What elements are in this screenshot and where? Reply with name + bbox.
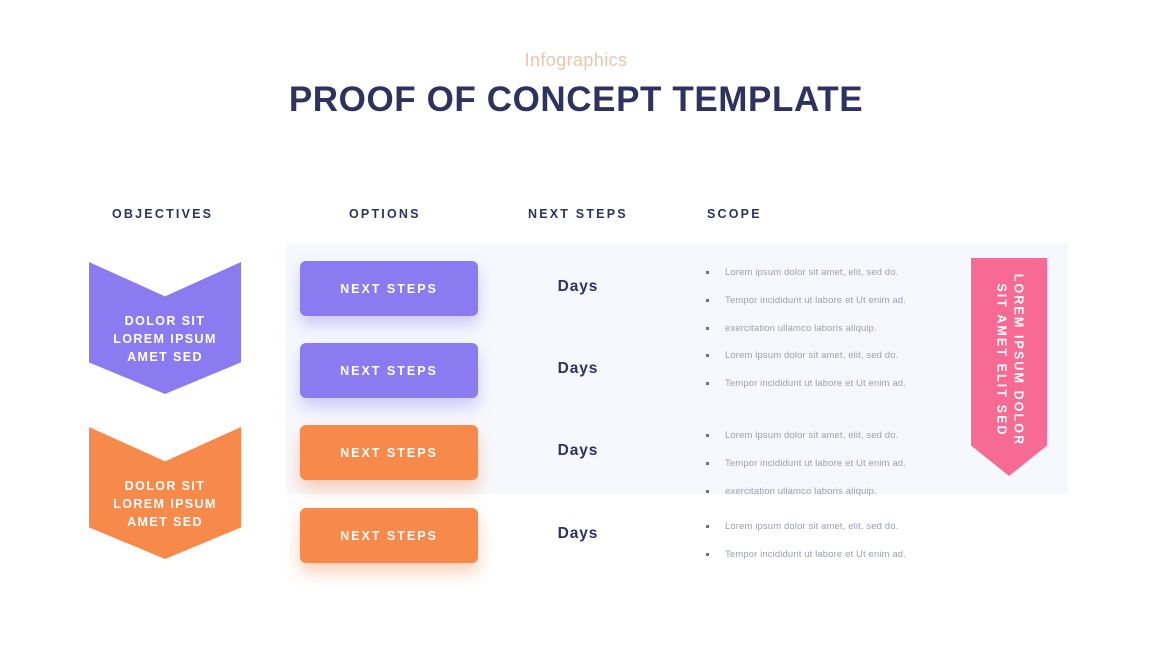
- objective-badge[interactable]: DOLOR SIT LOREM IPSUM AMET SED: [89, 262, 241, 394]
- page-title: PROOF OF CONCEPT TEMPLATE: [0, 80, 1152, 120]
- scope-text: exercitation ullamco laboris aliquip.: [725, 486, 877, 497]
- list-item: Tempor incididunt ut labore et Ut enim a…: [702, 378, 952, 389]
- ribbon-line-1: LOREM IPSUM DOLOR: [1009, 274, 1026, 447]
- bullet-icon: [706, 553, 709, 556]
- list-item: Lorem ipsum dolor sit amet, elit, sed do…: [702, 521, 952, 532]
- objective-badge[interactable]: DOLOR SIT LOREM IPSUM AMET SED: [89, 427, 241, 559]
- bullet-icon: [706, 327, 709, 330]
- objective-line-3: AMET SED: [113, 348, 217, 366]
- column-header-options: OPTIONS: [349, 207, 421, 221]
- option-button[interactable]: NEXT STEPS: [300, 343, 478, 398]
- scope-list: Lorem ipsum dolor sit amet, elit, sed do…: [702, 430, 952, 514]
- option-button[interactable]: NEXT STEPS: [300, 508, 478, 563]
- scope-text: Tempor incididunt ut labore et Ut enim a…: [725, 378, 906, 389]
- scope-text: exercitation ullamco laboris aliquip.: [725, 323, 877, 334]
- next-steps-value: Days: [528, 360, 628, 378]
- scope-text: Tempor incididunt ut labore et Ut enim a…: [725, 458, 906, 469]
- list-item: Tempor incididunt ut labore et Ut enim a…: [702, 458, 952, 469]
- list-item: Lorem ipsum dolor sit amet, elit, sed do…: [702, 267, 952, 278]
- bullet-icon: [706, 382, 709, 385]
- next-steps-value: Days: [528, 278, 628, 296]
- list-item: Lorem ipsum dolor sit amet, elit, sed do…: [702, 350, 952, 361]
- objective-line-1: DOLOR SIT: [113, 477, 217, 495]
- next-steps-value: Days: [528, 442, 628, 460]
- bullet-icon: [706, 462, 709, 465]
- list-item: exercitation ullamco laboris aliquip.: [702, 486, 952, 497]
- scope-list: Lorem ipsum dolor sit amet, elit, sed do…: [702, 350, 952, 406]
- scope-text: Lorem ipsum dolor sit amet, elit, sed do…: [725, 430, 898, 441]
- scope-text: Tempor incididunt ut labore et Ut enim a…: [725, 549, 906, 560]
- slide-canvas: Infographics PROOF OF CONCEPT TEMPLATE O…: [0, 0, 1152, 648]
- option-button[interactable]: NEXT STEPS: [300, 425, 478, 480]
- objective-line-1: DOLOR SIT: [113, 312, 217, 330]
- objective-line-2: LOREM IPSUM: [113, 495, 217, 513]
- list-item: Tempor incididunt ut labore et Ut enim a…: [702, 549, 952, 560]
- ribbon-line-2: SIT AMET ELIT SED: [992, 274, 1009, 447]
- bullet-icon: [706, 299, 709, 302]
- list-item: Tempor incididunt ut labore et Ut enim a…: [702, 295, 952, 306]
- bullet-icon: [706, 490, 709, 493]
- bullet-icon: [706, 434, 709, 437]
- bullet-icon: [706, 271, 709, 274]
- list-item: Lorem ipsum dolor sit amet, elit, sed do…: [702, 430, 952, 441]
- eyebrow-label: Infographics: [0, 50, 1152, 71]
- list-item: exercitation ullamco laboris aliquip.: [702, 323, 952, 334]
- scope-text: Lorem ipsum dolor sit amet, elit, sed do…: [725, 350, 898, 361]
- bullet-icon: [706, 525, 709, 528]
- next-steps-value: Days: [528, 525, 628, 543]
- side-ribbon-banner[interactable]: LOREM IPSUM DOLOR SIT AMET ELIT SED: [971, 258, 1047, 476]
- scope-text: Lorem ipsum dolor sit amet, elit, sed do…: [725, 521, 898, 532]
- column-header-next-steps: NEXT STEPS: [528, 207, 628, 221]
- bullet-icon: [706, 354, 709, 357]
- option-button[interactable]: NEXT STEPS: [300, 261, 478, 316]
- objective-line-3: AMET SED: [113, 513, 217, 531]
- scope-list: Lorem ipsum dolor sit amet, elit, sed do…: [702, 267, 952, 351]
- scope-text: Lorem ipsum dolor sit amet, elit, sed do…: [725, 267, 898, 278]
- column-header-objectives: OBJECTIVES: [112, 207, 213, 221]
- scope-list: Lorem ipsum dolor sit amet, elit, sed do…: [702, 521, 952, 577]
- column-header-scope: SCOPE: [707, 207, 762, 221]
- objective-line-2: LOREM IPSUM: [113, 330, 217, 348]
- scope-text: Tempor incididunt ut labore et Ut enim a…: [725, 295, 906, 306]
